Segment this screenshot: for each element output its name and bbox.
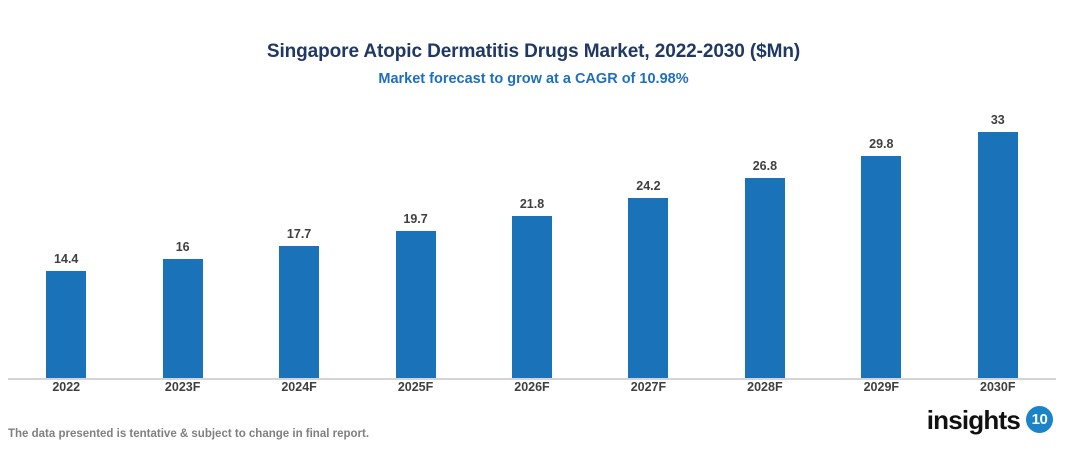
bar-value-label: 21.8 xyxy=(520,197,544,211)
bar-value-label: 17.7 xyxy=(287,227,311,241)
x-axis-tick-label: 2028F xyxy=(707,380,823,394)
bar-group: 33 xyxy=(940,110,1056,378)
chart-title: Singapore Atopic Dermatitis Drugs Market… xyxy=(0,40,1067,64)
insights10-logo: insights 10 xyxy=(927,406,1053,433)
x-axis-tick-label: 2027F xyxy=(590,380,706,394)
disclaimer-text: The data presented is tentative & subjec… xyxy=(8,428,369,440)
bar[interactable] xyxy=(512,216,552,378)
bar[interactable] xyxy=(46,271,86,378)
bar-value-label: 29.8 xyxy=(869,137,893,151)
bar[interactable] xyxy=(745,178,785,378)
bar[interactable] xyxy=(978,132,1018,378)
x-axis-tick-label: 2025F xyxy=(357,380,473,394)
bar[interactable] xyxy=(861,156,901,378)
logo-wordmark: insights xyxy=(927,407,1020,433)
bar[interactable] xyxy=(396,231,436,378)
bar-group: 21.8 xyxy=(474,110,590,378)
bar-group: 26.8 xyxy=(707,110,823,378)
plot-area: 14.41617.719.721.824.226.829.833 xyxy=(8,110,1056,380)
bar-group: 24.2 xyxy=(590,110,706,378)
x-axis-tick-label: 2030F xyxy=(940,380,1056,394)
bar-value-label: 19.7 xyxy=(403,212,427,226)
bar-value-label: 33 xyxy=(991,113,1005,127)
x-axis-tick-label: 2024F xyxy=(241,380,357,394)
x-axis-tick-label: 2022 xyxy=(8,380,124,394)
bar-value-label: 14.4 xyxy=(54,252,78,266)
x-axis-tick-labels: 20222023F2024F2025F2026F2027F2028F2029F2… xyxy=(8,380,1056,402)
chart-figure: Singapore Atopic Dermatitis Drugs Market… xyxy=(0,0,1067,454)
bar-group: 17.7 xyxy=(241,110,357,378)
bar[interactable] xyxy=(163,259,203,378)
bar-group: 19.7 xyxy=(357,110,473,378)
bar-group: 29.8 xyxy=(823,110,939,378)
x-axis-tick-label: 2026F xyxy=(474,380,590,394)
bar-group: 14.4 xyxy=(8,110,124,378)
x-axis-tick-label: 2029F xyxy=(823,380,939,394)
bar-value-label: 24.2 xyxy=(636,179,660,193)
chart-header: Singapore Atopic Dermatitis Drugs Market… xyxy=(0,40,1067,90)
bar-value-label: 16 xyxy=(176,240,190,254)
bar-group: 16 xyxy=(124,110,240,378)
bar-value-label: 26.8 xyxy=(753,159,777,173)
chart-subtitle: Market forecast to grow at a CAGR of 10.… xyxy=(0,68,1067,90)
bar-series: 14.41617.719.721.824.226.829.833 xyxy=(8,110,1056,378)
bar[interactable] xyxy=(628,198,668,378)
logo-badge-icon: 10 xyxy=(1026,406,1053,433)
bar[interactable] xyxy=(279,246,319,378)
x-axis-tick-label: 2023F xyxy=(124,380,240,394)
